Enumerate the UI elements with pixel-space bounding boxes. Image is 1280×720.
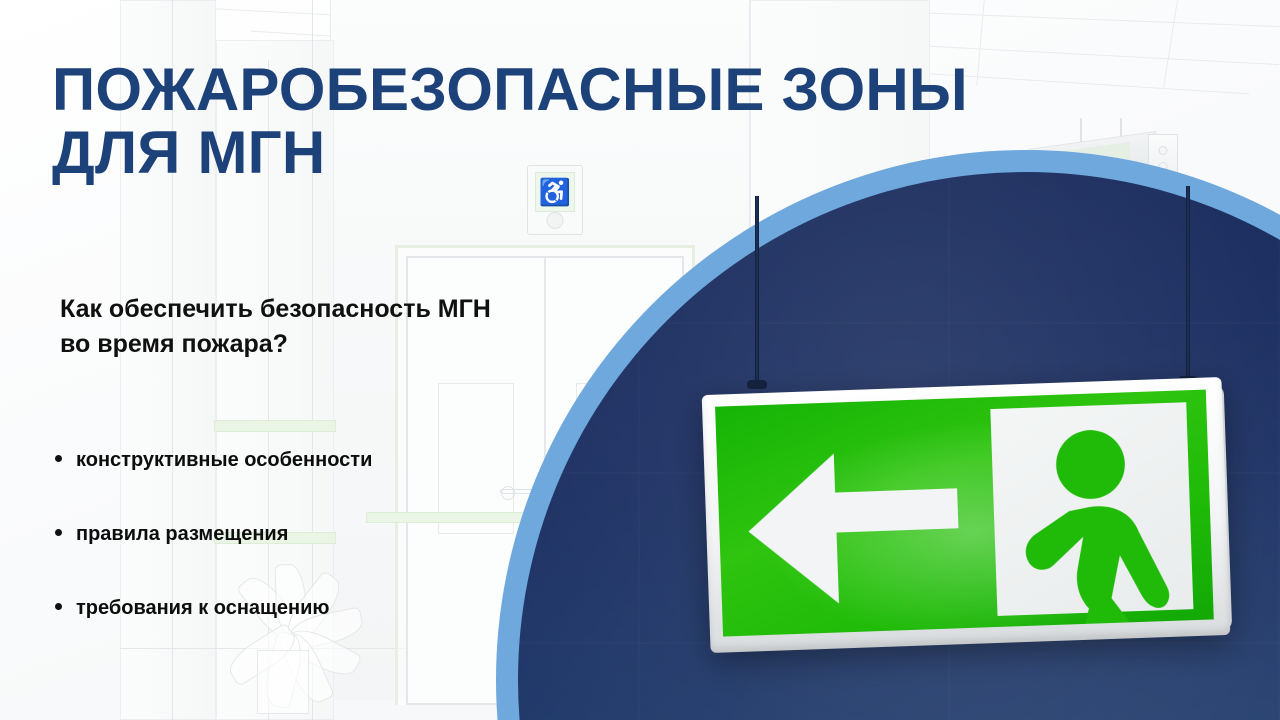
bullet-dot-icon [55,603,62,610]
sign-face [715,390,1214,637]
slide-canvas: ПОЖАРОБЕЗОПАСНЫЕ ЗОНЫ ДЛЯ МГН Как обеспе… [0,0,1280,720]
bullet-list: конструктивные особенности правила разме… [52,448,572,670]
emergency-strip-left [214,420,336,432]
left-arrow-icon [746,448,986,590]
sign-rod-mount-left [747,380,767,389]
subtitle-line-2: во время пожара? [60,327,680,362]
list-item: конструктивные особенности [52,448,572,472]
list-item: требования к оснащению [52,596,572,620]
sign-suspension-rod-right [1186,186,1190,382]
title-line-2: ДЛЯ МГН [52,121,1062,184]
title-line-1: ПОЖАРОБЕЗОПАСНЫЕ ЗОНЫ [52,58,1062,121]
page-title: ПОЖАРОБЕЗОПАСНЫЕ ЗОНЫ ДЛЯ МГН [52,58,1062,184]
exit-door-panel [990,402,1193,616]
bullet-dot-icon [55,529,62,536]
list-item: правила размещения [52,522,572,546]
list-item-label: требования к оснащению [76,597,330,619]
list-item-label: правила размещения [76,523,288,545]
subtitle: Как обеспечить безопасность МГН во время… [60,292,680,361]
arrow-tail [828,488,959,533]
subtitle-line-1: Как обеспечить безопасность МГН [60,292,680,327]
emergency-exit-sign [702,377,1231,653]
list-item-label: конструктивные особенности [76,449,372,471]
running-man-icon [990,402,1199,637]
bullet-dot-icon [55,455,62,462]
arrow-head [746,453,839,606]
sign-suspension-rod-left [755,196,759,386]
